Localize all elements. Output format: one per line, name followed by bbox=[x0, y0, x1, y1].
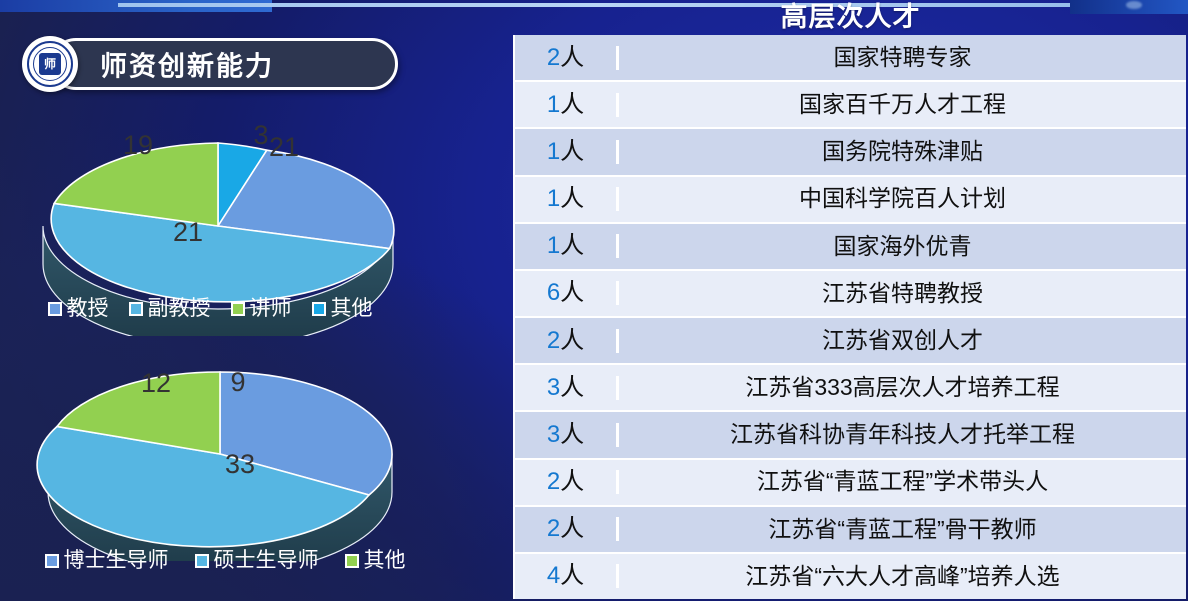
legend-label-doctoral-supervisor: 博士生导师 bbox=[64, 550, 169, 571]
talent-count-cell: 1人 bbox=[515, 140, 619, 164]
talent-count-cell: 2人 bbox=[515, 329, 619, 353]
talent-count-unit: 人 bbox=[560, 468, 584, 495]
pie1-label-assoc-professor: 21 bbox=[173, 217, 203, 247]
talent-count-cell: 4人 bbox=[515, 564, 619, 588]
talent-program-name: 江苏省“青蓝工程”骨干教师 bbox=[619, 517, 1186, 542]
talent-program-name: 国家特聘专家 bbox=[619, 45, 1186, 70]
talent-program-name: 江苏省双创人才 bbox=[619, 328, 1186, 353]
legend-label-lecturer: 讲师 bbox=[250, 298, 292, 319]
pie-chart-2-legend: 博士生导师 硕士生导师 其他 bbox=[0, 550, 450, 571]
talent-program-name: 国家百千万人才工程 bbox=[619, 92, 1186, 117]
table-row: 4人江苏省“六大人才高峰”培养人选 bbox=[515, 554, 1186, 599]
talent-count-unit: 人 bbox=[560, 562, 584, 589]
talent-count-unit: 人 bbox=[560, 421, 584, 448]
pie2-label-master: 33 bbox=[225, 449, 255, 479]
legend-label-other-supervisor: 其他 bbox=[364, 550, 406, 571]
talent-count-unit: 人 bbox=[560, 232, 584, 259]
talent-count-unit: 人 bbox=[560, 327, 584, 354]
talent-count-cell: 3人 bbox=[515, 376, 619, 400]
table-row: 2人江苏省“青蓝工程”学术带头人 bbox=[515, 460, 1186, 507]
legend-swatch-doctoral-supervisor bbox=[45, 554, 59, 568]
legend-label-professor: 教授 bbox=[67, 298, 109, 319]
table-row: 1人国家百千万人才工程 bbox=[515, 82, 1186, 129]
table-row: 1人国家海外优青 bbox=[515, 224, 1186, 271]
table-row: 3人江苏省科协青年科技人才托举工程 bbox=[515, 412, 1186, 459]
legend-swatch-other bbox=[312, 302, 326, 316]
talent-program-name: 国务院特殊津贴 bbox=[619, 139, 1186, 164]
high-level-talent-table: 2人国家特聘专家1人国家百千万人才工程1人国务院特殊津贴1人中国科学院百人计划1… bbox=[513, 35, 1186, 599]
table-row: 2人江苏省双创人才 bbox=[515, 318, 1186, 365]
legend-item-assoc-professor[interactable]: 副教授 bbox=[129, 298, 211, 319]
talent-count-unit: 人 bbox=[560, 279, 584, 306]
talent-program-name: 国家海外优青 bbox=[619, 234, 1186, 259]
legend-swatch-lecturer bbox=[231, 302, 245, 316]
pie1-label-professor: 21 bbox=[269, 132, 299, 162]
talent-count-unit: 人 bbox=[560, 185, 584, 212]
talent-program-name: 中国科学院百人计划 bbox=[619, 186, 1186, 211]
talent-count-number: 1 bbox=[547, 138, 560, 165]
talent-count-unit: 人 bbox=[560, 374, 584, 401]
talent-count-number: 4 bbox=[547, 562, 560, 589]
talent-count-unit: 人 bbox=[560, 138, 584, 165]
table-row: 6人江苏省特聘教授 bbox=[515, 271, 1186, 318]
talent-count-number: 1 bbox=[547, 91, 560, 118]
talent-count-number: 2 bbox=[547, 515, 560, 542]
talent-count-number: 2 bbox=[547, 468, 560, 495]
pie-chart-supervisors: 9 33 12 bbox=[6, 346, 446, 561]
talent-count-number: 1 bbox=[547, 232, 560, 259]
talent-count-number: 6 bbox=[547, 279, 560, 306]
legend-item-other-supervisor[interactable]: 其他 bbox=[345, 550, 406, 571]
talent-count-cell: 2人 bbox=[515, 470, 619, 494]
talent-count-unit: 人 bbox=[560, 515, 584, 542]
talent-program-name: 江苏省333高层次人才培养工程 bbox=[619, 375, 1186, 400]
page-title: 高层次人才 bbox=[513, 1, 1188, 33]
talent-count-number: 1 bbox=[547, 185, 560, 212]
legend-label-master-supervisor: 硕士生导师 bbox=[214, 550, 319, 571]
talent-count-cell: 3人 bbox=[515, 423, 619, 447]
legend-item-lecturer[interactable]: 讲师 bbox=[231, 298, 292, 319]
table-row: 1人中国科学院百人计划 bbox=[515, 177, 1186, 224]
talent-count-cell: 2人 bbox=[515, 46, 619, 70]
pie-chart-2-graphic: 9 33 12 bbox=[6, 346, 446, 561]
pie-chart-1-legend: 教授 副教授 讲师 其他 bbox=[10, 298, 410, 319]
talent-count-cell: 6人 bbox=[515, 281, 619, 305]
legend-item-master-supervisor[interactable]: 硕士生导师 bbox=[195, 550, 319, 571]
table-row: 1人国务院特殊津贴 bbox=[515, 129, 1186, 176]
legend-label-assoc-professor: 副教授 bbox=[148, 298, 211, 319]
talent-program-name: 江苏省“六大人才高峰”培养人选 bbox=[619, 564, 1186, 589]
pie2-label-doctoral: 9 bbox=[230, 367, 245, 397]
talent-count-unit: 人 bbox=[560, 91, 584, 118]
pie1-label-other: 3 bbox=[253, 120, 268, 150]
talent-count-number: 3 bbox=[547, 421, 560, 448]
talent-count-number: 2 bbox=[547, 327, 560, 354]
legend-item-professor[interactable]: 教授 bbox=[48, 298, 109, 319]
talent-program-name: 江苏省特聘教授 bbox=[619, 281, 1186, 306]
talent-count-cell: 1人 bbox=[515, 93, 619, 117]
legend-item-doctoral-supervisor[interactable]: 博士生导师 bbox=[45, 550, 169, 571]
university-seal-icon: 师 bbox=[22, 36, 78, 92]
section-badge-label: 师资创新能力 bbox=[100, 45, 274, 84]
talent-count-cell: 1人 bbox=[515, 187, 619, 211]
table-row: 2人江苏省“青蓝工程”骨干教师 bbox=[515, 507, 1186, 554]
talent-program-name: 江苏省“青蓝工程”学术带头人 bbox=[619, 469, 1186, 494]
legend-swatch-professor bbox=[48, 302, 62, 316]
talent-count-cell: 1人 bbox=[515, 234, 619, 258]
talent-count-number: 3 bbox=[547, 374, 560, 401]
pie1-label-lecturer: 19 bbox=[123, 130, 153, 160]
legend-swatch-master-supervisor bbox=[195, 554, 209, 568]
talent-count-cell: 2人 bbox=[515, 517, 619, 541]
talent-count-unit: 人 bbox=[560, 44, 584, 71]
talent-count-number: 2 bbox=[547, 44, 560, 71]
table-row: 3人江苏省333高层次人才培养工程 bbox=[515, 365, 1186, 412]
talent-program-name: 江苏省科协青年科技人才托举工程 bbox=[619, 422, 1186, 447]
legend-label-other: 其他 bbox=[331, 298, 373, 319]
table-row: 2人国家特聘专家 bbox=[515, 35, 1186, 82]
pie2-label-other: 12 bbox=[141, 368, 171, 398]
legend-item-other[interactable]: 其他 bbox=[312, 298, 373, 319]
legend-swatch-other-supervisor bbox=[345, 554, 359, 568]
legend-swatch-assoc-professor bbox=[129, 302, 143, 316]
